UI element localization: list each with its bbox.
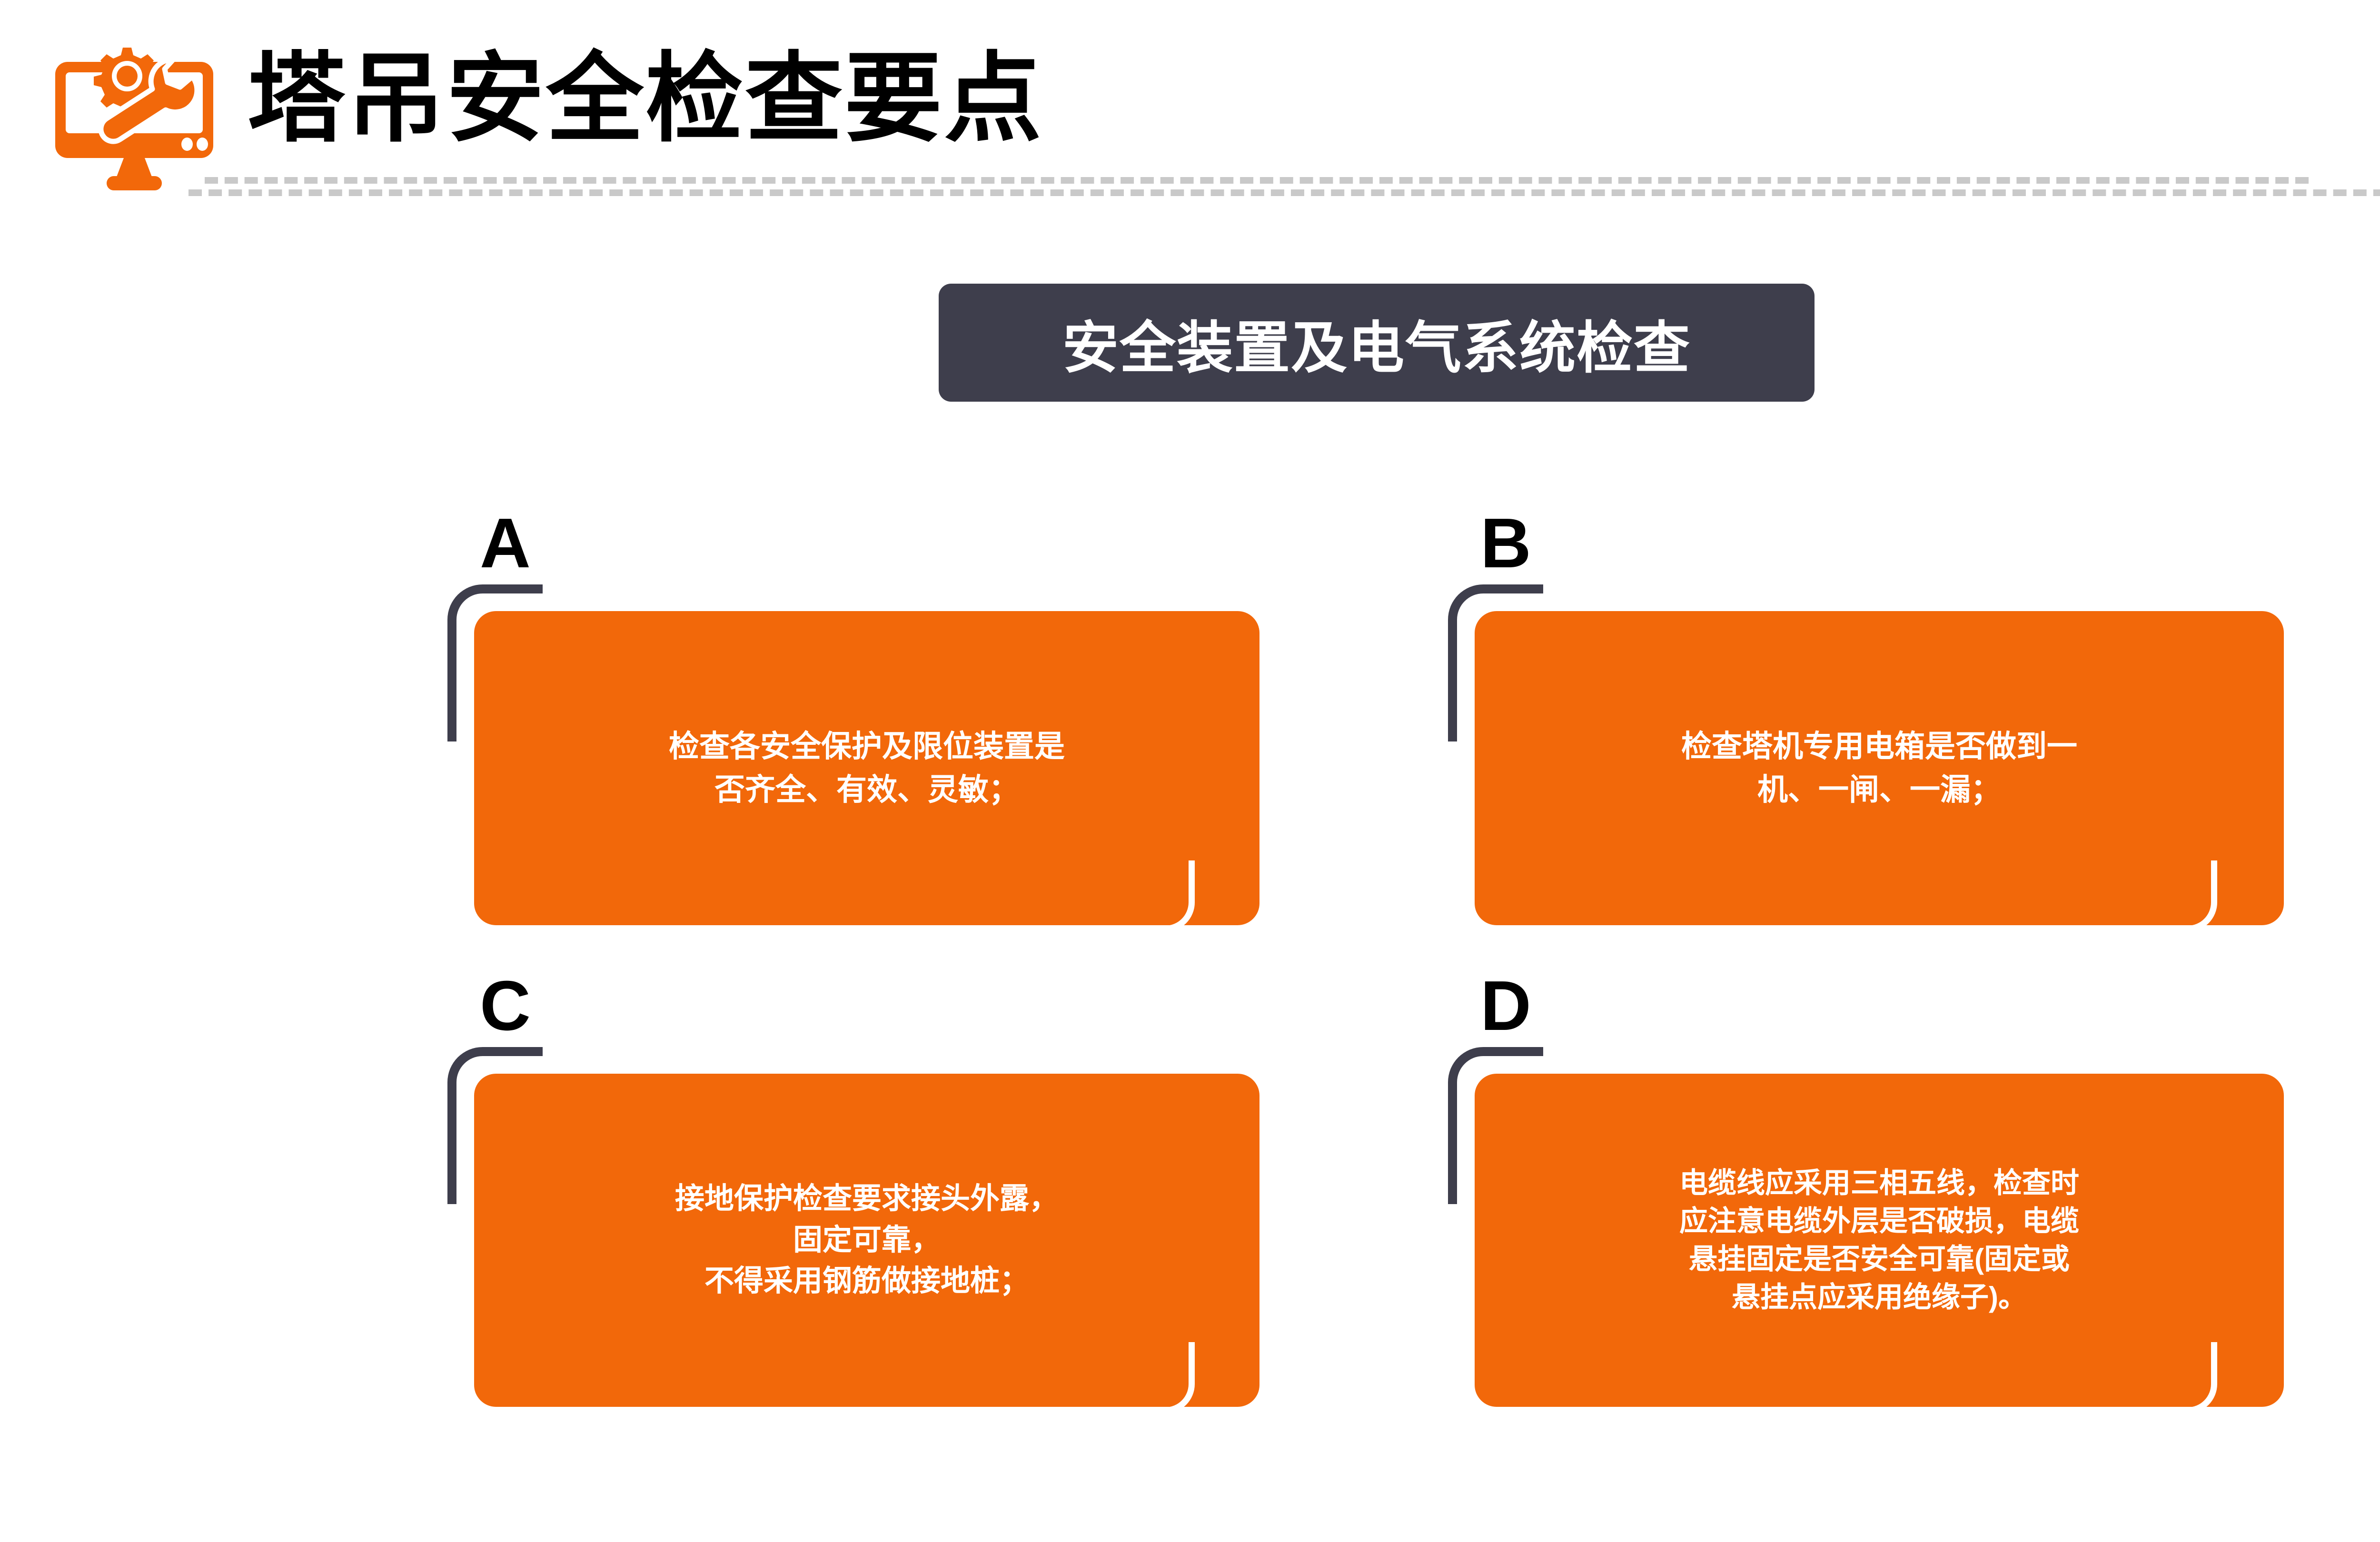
card-letter-a: A: [480, 508, 531, 579]
page-title: 塔吊安全检查要点: [248, 48, 1043, 150]
section-banner: 安全装置及电气系统检查: [939, 284, 1815, 402]
card-letter-d: D: [1480, 971, 1531, 1041]
card-letter-b: B: [1480, 508, 1531, 579]
page-header: 塔吊安全检查要点: [0, 0, 2380, 190]
monitor-gear-wrench-icon: [53, 33, 215, 190]
card-corner-bracket-light: [2146, 860, 2217, 932]
card-corner-bracket-light: [2146, 1342, 2217, 1413]
section-banner-label: 安全装置及电气系统检查: [1062, 302, 1691, 384]
card-text-c: 接地保护检查要求接头外露， 固定可靠， 不得采用钢筋做接地桩；: [649, 1178, 1084, 1302]
card-text-a: 检查各安全保护及限位装置是 否齐全、有效、灵敏；: [643, 725, 1091, 811]
card-corner-bracket-light: [1123, 1342, 1195, 1413]
card-text-d: 电缆线应采用三相五线，检查时 应注意电缆外层是否破损，电缆 悬挂固定是否安全可靠…: [1654, 1164, 2105, 1316]
card-letter-c: C: [480, 971, 531, 1041]
header-divider-top: [205, 177, 2309, 184]
card-corner-bracket-light: [1123, 860, 1195, 932]
card-text-b: 检查塔机专用电箱是否做到一 机、一闸、一漏；: [1656, 725, 2103, 811]
header-divider-bottom: [188, 189, 2380, 196]
